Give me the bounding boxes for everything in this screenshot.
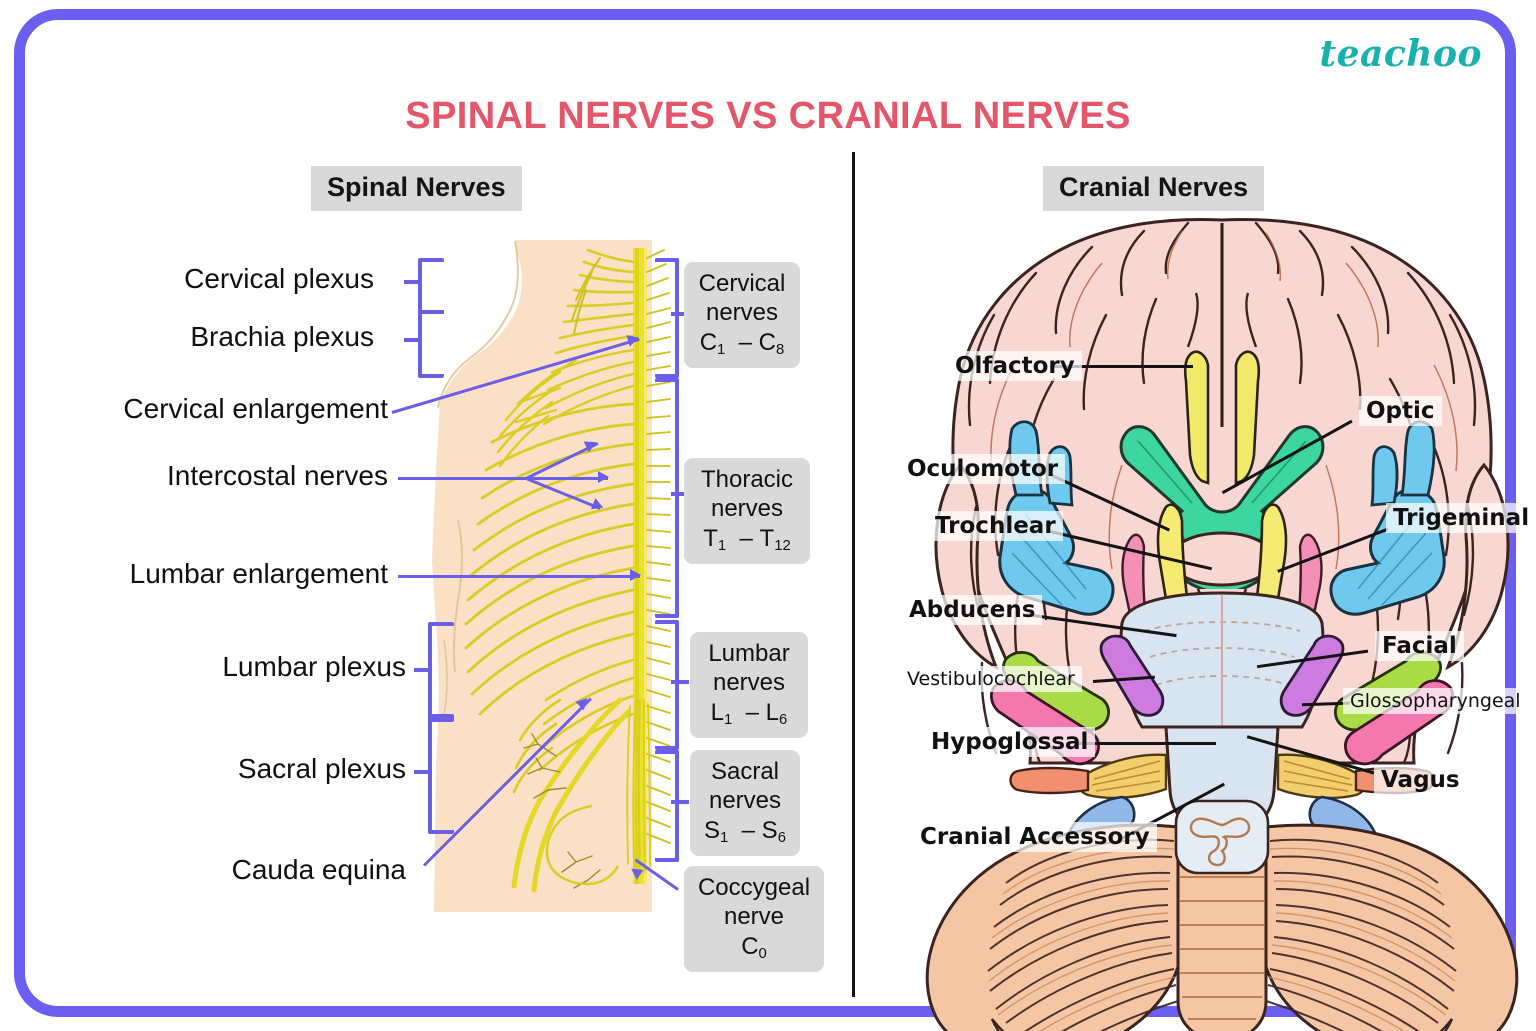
nerve-box-thoracic-range: T1 – T12 bbox=[694, 524, 800, 555]
nerve-box-cervical-range: C1 – C8 bbox=[694, 328, 790, 359]
arrowhead-intercostal-mid bbox=[598, 471, 609, 483]
panel-divider bbox=[852, 152, 855, 997]
nerve-box-sacral: Sacral nerves S1 – S6 bbox=[690, 750, 800, 856]
tick-lumbar-plexus bbox=[414, 668, 432, 672]
nerve-box-cervical-line2: nerves bbox=[694, 298, 790, 327]
nerve-box-cervical-line1: Cervical bbox=[694, 269, 790, 298]
nerve-box-coccygeal: Coccygeal nerve C0 bbox=[684, 866, 824, 972]
cranial-label-trochlear: Trochlear bbox=[928, 511, 1063, 541]
label-cauda-equina: Cauda equina bbox=[232, 854, 406, 886]
nerve-box-sacral-line1: Sacral bbox=[700, 757, 790, 786]
nerve-box-sacral-range: S1 – S6 bbox=[700, 816, 790, 847]
nerve-box-cervical: Cervical nerves C1 – C8 bbox=[684, 262, 800, 368]
nerve-box-lumbar-line1: Lumbar bbox=[700, 639, 798, 668]
cranial-label-oculomotor: Oculomotor bbox=[900, 454, 1065, 484]
nerve-box-lumbar: Lumbar nerves L1 – L6 bbox=[690, 632, 808, 738]
arrowhead-lumbar-enlargement bbox=[630, 569, 641, 581]
diagram-page: teachoo SPINAL NERVES VS CRANIAL NERVES … bbox=[0, 0, 1536, 1031]
label-sacral-plexus: Sacral plexus bbox=[238, 753, 406, 785]
bracket-sacral-nerves bbox=[655, 750, 679, 862]
nerve-box-lumbar-range: L1 – L6 bbox=[700, 698, 798, 729]
bracket-sacral-plexus bbox=[428, 714, 454, 834]
tick-cervical-plexus bbox=[404, 280, 422, 284]
bracket-lumbar-plexus bbox=[428, 622, 454, 722]
bracket-brachia-plexus bbox=[418, 310, 444, 378]
nerve-box-thoracic: Thoracic nerves T1 – T12 bbox=[684, 458, 810, 564]
tick-sacral-nerves bbox=[671, 800, 689, 804]
panel-header-cranial: Cranial Nerves bbox=[1043, 166, 1264, 211]
page-title: SPINAL NERVES VS CRANIAL NERVES bbox=[0, 95, 1536, 138]
tick-lumbar-nerves bbox=[671, 680, 689, 684]
cranial-label-vagus: Vagus bbox=[1374, 765, 1467, 795]
teachoo-logo: teachoo bbox=[1320, 33, 1482, 75]
leader-hypoglossal bbox=[1078, 742, 1216, 745]
cranial-label-trigeminal: Trigeminal bbox=[1386, 503, 1536, 533]
cranial-label-facial: Facial bbox=[1375, 631, 1464, 661]
cranial-label-abducens: Abducens bbox=[902, 595, 1042, 625]
cranial-label-hypoglossal: Hypoglossal bbox=[924, 727, 1095, 757]
label-brachia-plexus: Brachia plexus bbox=[190, 321, 374, 353]
tick-brachia-plexus bbox=[404, 338, 422, 342]
label-cervical-enlargement: Cervical enlargement bbox=[123, 393, 388, 425]
cranial-label-olfactory: Olfactory bbox=[948, 351, 1082, 381]
label-cervical-plexus: Cervical plexus bbox=[184, 263, 374, 295]
bracket-cervical-plexus bbox=[418, 258, 444, 314]
nerve-box-coccygeal-range: C0 bbox=[694, 932, 814, 963]
nerve-box-coccygeal-line1: Coccygeal bbox=[694, 873, 814, 902]
pointer-intercostal-mid bbox=[526, 477, 608, 480]
label-intercostal-nerves: Intercostal nerves bbox=[167, 460, 388, 492]
bracket-thoracic-nerves bbox=[655, 378, 679, 618]
cranial-label-optic: Optic bbox=[1359, 396, 1442, 426]
nerve-box-thoracic-line1: Thoracic bbox=[694, 465, 800, 494]
cranial-label-glossopharyngeal: Glossopharyngeal bbox=[1343, 688, 1528, 714]
nerve-box-sacral-line2: nerves bbox=[700, 786, 790, 815]
nerve-box-lumbar-line2: nerves bbox=[700, 668, 798, 697]
label-lumbar-plexus: Lumbar plexus bbox=[222, 651, 406, 683]
cranial-label-vestibulocochlear: Vestibulocochlear bbox=[900, 666, 1082, 692]
nerve-box-coccygeal-line2: nerve bbox=[694, 902, 814, 931]
cranial-label-cranial-accessory: Cranial Accessory bbox=[913, 822, 1157, 852]
pointer-intercostal-main bbox=[398, 477, 528, 480]
bracket-lumbar-nerves bbox=[655, 620, 679, 750]
bracket-cervical-nerves bbox=[655, 258, 679, 378]
label-lumbar-enlargement: Lumbar enlargement bbox=[130, 558, 388, 590]
panel-header-spinal: Spinal Nerves bbox=[311, 166, 522, 211]
pointer-lumbar-enlargement bbox=[398, 575, 640, 578]
nerve-box-thoracic-line2: nerves bbox=[694, 494, 800, 523]
tick-sacral-plexus bbox=[414, 770, 432, 774]
